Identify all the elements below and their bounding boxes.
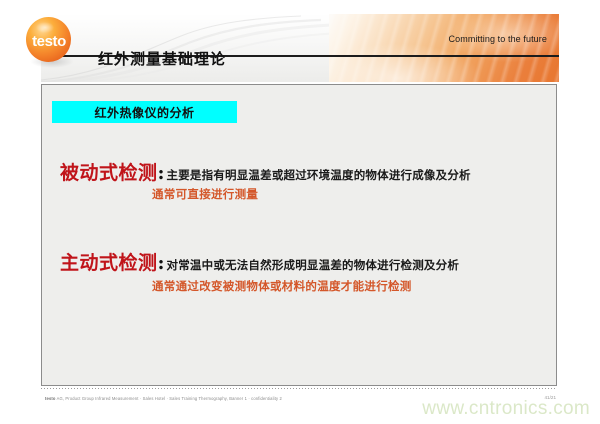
logo-wordmark: testo [22,33,76,50]
brand-tagline: Committing to the future [449,34,547,44]
footer-credit: testo AG, Product Group Infrared Measure… [45,396,282,401]
block-1-note: 通常可直接进行测量 [152,186,258,202]
block-1-lead-term: 被动式检测 [60,158,158,185]
page-title: 红外测量基础理论 [98,48,226,69]
footer-detail: AG, Product Group Infrared Measurement ·… [57,396,282,401]
slide-body-panel [41,84,557,386]
block-1-description: 主要是指有明显温差或超过环境温度的物体进行成像及分析 [165,167,471,183]
slide-canvas: Committing to the future testo 红外测量基础理论 … [0,0,600,424]
site-watermark: www.cntronics.com [422,398,590,420]
content-block-2-heading: 主动式检测 : 对常温中或无法自然形成明显温差的物体进行检测及分析 [60,248,459,275]
block-2-note: 通常通过改变被测物体或材料的温度才能进行检测 [152,278,412,294]
testo-logo: testo [22,15,76,67]
section-subtitle-text: 红外热像仪的分析 [94,104,194,121]
block-2-colon: : [158,252,165,274]
content-block-1-heading: 被动式检测 : 主要是指有明显温差或超过环境温度的物体进行成像及分析 [60,158,471,185]
block-2-description: 对常温中或无法自然形成明显温差的物体进行检测及分析 [165,257,460,273]
header-orange-banner [329,14,559,82]
block-2-lead-term: 主动式检测 [60,248,158,275]
section-subtitle-highlight: 红外热像仪的分析 [52,101,237,123]
block-1-colon: : [158,162,165,184]
footer-company: testo [45,396,56,401]
footer-divider [41,388,557,389]
